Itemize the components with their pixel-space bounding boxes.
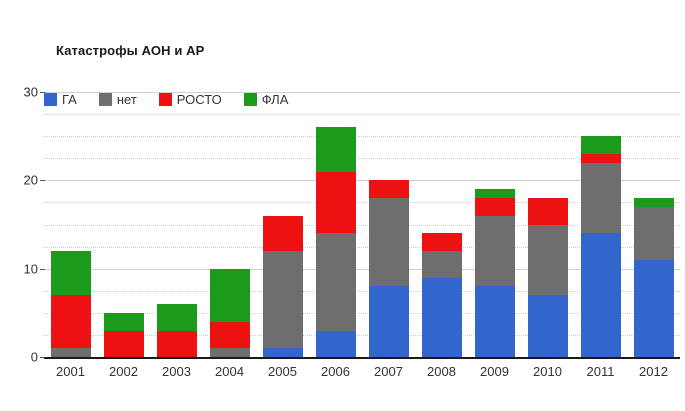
legend-item-РОСТО[interactable]: РОСТО [159, 92, 222, 107]
x-axis-line [44, 357, 680, 359]
bar-segment[interactable] [104, 331, 144, 358]
bar-segment[interactable] [634, 207, 674, 260]
y-axis-tick-mark [40, 357, 45, 358]
legend-swatch-icon [44, 93, 57, 106]
bar-segment[interactable] [581, 154, 621, 163]
bar-segment[interactable] [157, 331, 197, 358]
bar-group-2012[interactable] [634, 92, 674, 357]
bar-group-2011[interactable] [581, 92, 621, 357]
bar-segment[interactable] [581, 136, 621, 154]
legend-label: ГА [62, 92, 77, 107]
bar-segment[interactable] [316, 127, 356, 171]
bar-group-2002[interactable] [104, 92, 144, 357]
y-axis-tick-label: 10 [6, 261, 38, 276]
x-axis-tick-label: 2011 [574, 364, 627, 379]
x-axis-tick-label: 2008 [415, 364, 468, 379]
y-axis-tick-mark [40, 180, 45, 181]
bar-segment[interactable] [263, 348, 303, 357]
bar-segment[interactable] [51, 295, 91, 348]
bar-group-2006[interactable] [316, 92, 356, 357]
chart-container: Катастрофы АОН и АР 0102030 ГАнетРОСТОФЛ… [0, 0, 685, 411]
legend-label: РОСТО [177, 92, 222, 107]
x-axis-tick-label: 2005 [256, 364, 309, 379]
x-axis-tick-label: 2007 [362, 364, 415, 379]
plot-area [44, 92, 680, 357]
legend-item-нет[interactable]: нет [99, 92, 137, 107]
bar-segment[interactable] [475, 286, 515, 357]
bar-segment[interactable] [316, 172, 356, 234]
bar-group-2009[interactable] [475, 92, 515, 357]
bar-group-2008[interactable] [422, 92, 462, 357]
bar-group-2005[interactable] [263, 92, 303, 357]
x-axis-tick-label: 2003 [150, 364, 203, 379]
bar-segment[interactable] [316, 233, 356, 330]
legend-label: нет [117, 92, 137, 107]
y-axis: 0102030 [0, 0, 38, 411]
bar-segment[interactable] [475, 189, 515, 198]
bar-segment[interactable] [263, 216, 303, 251]
bar-segment[interactable] [422, 278, 462, 358]
legend-item-ГА[interactable]: ГА [44, 92, 77, 107]
bar-segment[interactable] [581, 163, 621, 234]
x-axis-tick-label: 2006 [309, 364, 362, 379]
bar-segment[interactable] [528, 295, 568, 357]
legend-label: ФЛА [262, 92, 289, 107]
bar-group-2001[interactable] [51, 92, 91, 357]
y-axis-tick-mark [40, 92, 45, 93]
bar-segment[interactable] [263, 251, 303, 348]
legend-item-ФЛА[interactable]: ФЛА [244, 92, 289, 107]
legend-swatch-icon [244, 93, 257, 106]
legend-swatch-icon [159, 93, 172, 106]
chart-title: Катастрофы АОН и АР [56, 43, 204, 58]
bar-segment[interactable] [369, 180, 409, 198]
bar-segment[interactable] [210, 348, 250, 357]
bar-segment[interactable] [634, 198, 674, 207]
bar-segment[interactable] [581, 233, 621, 357]
bar-segment[interactable] [475, 216, 515, 287]
bar-group-2004[interactable] [210, 92, 250, 357]
x-axis-tick-label: 2001 [44, 364, 97, 379]
chart-legend: ГАнетРОСТОФЛА [44, 91, 310, 108]
y-axis-tick-mark [40, 269, 45, 270]
bar-segment[interactable] [369, 286, 409, 357]
y-axis-tick-label: 0 [6, 350, 38, 365]
bar-segment[interactable] [422, 251, 462, 278]
bar-segment[interactable] [369, 198, 409, 286]
bar-group-2010[interactable] [528, 92, 568, 357]
y-axis-tick-label: 30 [6, 85, 38, 100]
y-axis-tick-label: 20 [6, 173, 38, 188]
bar-segment[interactable] [51, 251, 91, 295]
x-axis-tick-label: 2012 [627, 364, 680, 379]
bar-segment[interactable] [316, 331, 356, 358]
x-axis-tick-label: 2010 [521, 364, 574, 379]
bar-segment[interactable] [104, 313, 144, 331]
x-axis-tick-label: 2002 [97, 364, 150, 379]
bar-segment[interactable] [634, 260, 674, 357]
bar-segment[interactable] [210, 269, 250, 322]
bar-segment[interactable] [210, 322, 250, 349]
x-axis-tick-label: 2009 [468, 364, 521, 379]
legend-swatch-icon [99, 93, 112, 106]
x-axis-tick-label: 2004 [203, 364, 256, 379]
bar-group-2007[interactable] [369, 92, 409, 357]
bar-segment[interactable] [528, 225, 568, 296]
bar-segment[interactable] [475, 198, 515, 216]
bar-segment[interactable] [528, 198, 568, 225]
bar-group-2003[interactable] [157, 92, 197, 357]
bar-segment[interactable] [422, 233, 462, 251]
bar-segment[interactable] [157, 304, 197, 331]
bar-segment[interactable] [51, 348, 91, 357]
